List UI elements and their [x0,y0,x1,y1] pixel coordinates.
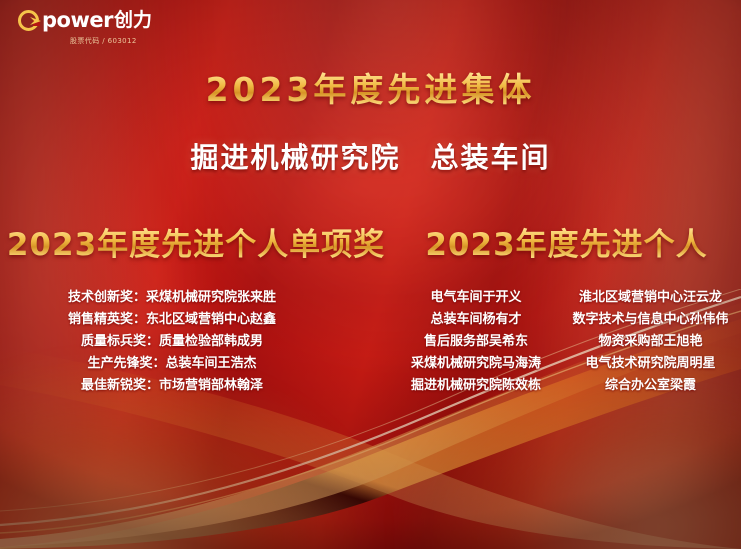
company-logo: power 创力 股票代码 / 603012 [18,10,152,46]
list-item: 掘进机械研究院陈效栋 综合办公室梁霞 [392,374,741,396]
logo-wordmark-cn: 创力 [114,11,152,30]
award-name-b: 电气技术研究院周明星 [560,352,741,374]
logo-wordmark: power [42,10,113,31]
list-item: 电气车间于开义 淮北区域营销中心汪云龙 [392,286,741,308]
section-heading-individual: 2023年度先进个人 [392,219,741,264]
list-item: 总装车间杨有才 数字技术与信息中心孙伟伟 [392,308,741,330]
award-poster: power 创力 股票代码 / 603012 2023年度先进集体 掘进机械研究… [0,0,741,549]
right-award-list: 电气车间于开义 淮北区域营销中心汪云龙 总装车间杨有才 数字技术与信息中心孙伟伟… [392,286,741,396]
list-item: 质量标兵奖：质量检验部韩成男 [0,330,392,352]
list-item: 售后服务部吴希东 物资采购部王旭艳 [392,330,741,352]
left-award-list: 技术创新奖：采煤机械研究院张来胜 销售精英奖：东北区域营销中心赵鑫 质量标兵奖：… [0,286,392,396]
list-item: 最佳新锐奖：市场营销部林翰泽 [0,374,392,396]
award-name-a: 售后服务部吴希东 [392,330,560,352]
section-headings: 2023年度先进个人单项奖 2023年度先进个人 [0,219,741,264]
list-item: 销售精英奖：东北区域营销中心赵鑫 [0,308,392,330]
section-heading-individual-special: 2023年度先进个人单项奖 [0,219,392,264]
power-arrow-logo-icon [18,10,39,31]
award-name-a: 掘进机械研究院陈效栋 [392,374,560,396]
page-subtitle: 掘进机械研究院 总装车间 [0,136,741,176]
award-name-a: 电气车间于开义 [392,286,560,308]
award-name-a: 总装车间杨有才 [392,308,560,330]
award-name-b: 综合办公室梁霞 [560,374,741,396]
list-item: 生产先锋奖：总装车间王浩杰 [0,352,392,374]
list-item: 采煤机械研究院马海涛 电气技术研究院周明星 [392,352,741,374]
award-name-b: 数字技术与信息中心孙伟伟 [560,308,741,330]
page-title: 2023年度先进集体 [0,63,741,111]
list-item: 技术创新奖：采煤机械研究院张来胜 [0,286,392,308]
award-name-b: 物资采购部王旭艳 [560,330,741,352]
award-columns: 技术创新奖：采煤机械研究院张来胜 销售精英奖：东北区域营销中心赵鑫 质量标兵奖：… [0,286,741,396]
award-name-a: 采煤机械研究院马海涛 [392,352,560,374]
stock-code-label: 股票代码 / 603012 [70,36,152,46]
award-name-b: 淮北区域营销中心汪云龙 [560,286,741,308]
